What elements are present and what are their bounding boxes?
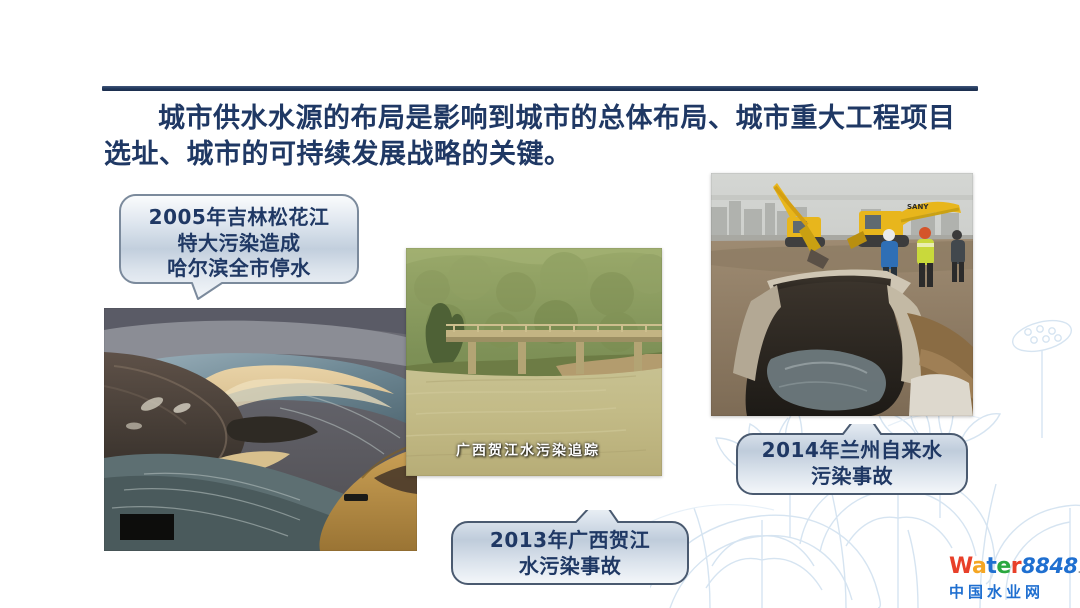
photo-caption-hejiang: 广西贺江水污染追踪 xyxy=(456,440,600,460)
hejiang-river-bridge-photo: 广西贺江水污染追踪 xyxy=(406,248,662,476)
logo-wordmark: Water8848.com xyxy=(949,554,1073,583)
logo-number: 8848 xyxy=(1021,554,1077,578)
logo-chinese-name: 中国水业网 xyxy=(949,583,1073,602)
lanzhou-excavation-photo: SANY xyxy=(711,173,973,416)
callout-2013-hejiang[interactable]: 2013年广西贺江 水污染事故 xyxy=(450,510,690,586)
callout-2005-text: 2005年吉林松花江 特大污染造成 哈尔滨全市停水 xyxy=(118,205,360,282)
songhua-river-aerial-photo xyxy=(104,308,417,551)
callout-2014-lanzhou[interactable]: 2014年兰州自来水 污染事故 xyxy=(735,424,969,496)
callout-2013-text: 2013年广西贺江 水污染事故 xyxy=(450,528,690,579)
logo-letter-w: W xyxy=(949,554,972,579)
svg-text:SANY: SANY xyxy=(907,203,929,211)
callout-2005-songhua[interactable]: 2005年吉林松花江 特大污染造成 哈尔滨全市停水 xyxy=(118,193,360,303)
logo-letter-r: r xyxy=(1011,554,1021,579)
water8848-logo[interactable]: Water8848.com 中国水业网 xyxy=(949,554,1073,602)
page-title: 城市供水水源的布局是影响到城市的总体布局、城市重大工程项目 选址、城市的可持续发… xyxy=(104,101,984,172)
slide-canvas: 城市供水水源的布局是影响到城市的总体布局、城市重大工程项目 选址、城市的可持续发… xyxy=(0,0,1080,608)
logo-letter-e: e xyxy=(996,554,1010,579)
logo-letter-t: t xyxy=(986,554,996,579)
page-title-line1: 城市供水水源的布局是影响到城市的总体布局、城市重大工程项目 xyxy=(158,103,956,134)
logo-letter-a: a xyxy=(972,554,986,579)
page-title-line2: 选址、城市的可持续发展战略的关键。 xyxy=(104,137,984,173)
callout-2014-text: 2014年兰州自来水 污染事故 xyxy=(735,438,969,489)
header-rule xyxy=(102,86,978,91)
